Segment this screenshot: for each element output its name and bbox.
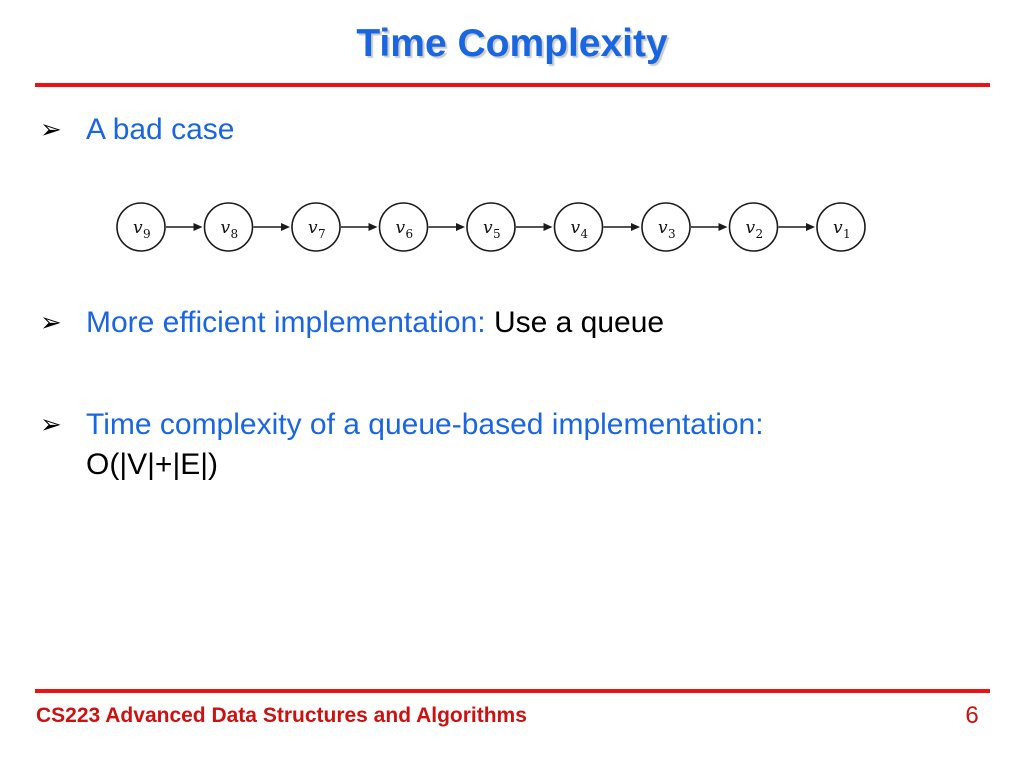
graph-node-subscript: 1	[843, 227, 851, 241]
page-title: Time Complexity	[0, 22, 1024, 66]
arrowhead-bullet-icon: ➢	[40, 405, 86, 445]
arrowhead-bullet-icon: ➢	[40, 110, 86, 150]
graph-node-subscript: 9	[143, 227, 151, 241]
graph-node-subscript: 6	[406, 227, 414, 241]
bullet-label-plain: Use a queue	[486, 306, 664, 339]
bullet-item-a-bad-case: ➢ A bad case	[40, 110, 990, 150]
graph-node-subscript: 4	[581, 227, 589, 241]
page-number: 6	[952, 702, 992, 730]
graph-edge-arrowhead-icon	[806, 223, 815, 231]
footer-course-label: CS223 Advanced Data Structures and Algor…	[36, 704, 527, 728]
graph-edge-arrowhead-icon	[369, 223, 378, 231]
bullet-item-more-efficient-implementation: ➢ More efficient implementation: Use a q…	[40, 303, 990, 343]
graph-node-label: v	[308, 218, 318, 238]
graph-edge-arrowhead-icon	[719, 223, 728, 231]
graph-node-label: v	[833, 218, 843, 238]
graph-node-subscript: 2	[756, 227, 764, 241]
bullet-label-highlight: Time complexity of a queue-based impleme…	[86, 408, 764, 441]
bullet-label: More efficient implementation: Use a que…	[86, 303, 664, 343]
graph-edge-arrowhead-icon	[456, 223, 465, 231]
graph-edge-arrowhead-icon	[631, 223, 640, 231]
graph-node-label: v	[571, 218, 581, 238]
bullet-item-time-complexity: ➢ Time complexity of a queue-based imple…	[40, 405, 990, 485]
graph-node-label: v	[396, 218, 406, 238]
bullet-label: A bad case	[86, 110, 234, 150]
directed-path-graph: v9v8v7v6v5v4v3v2v1	[100, 193, 900, 263]
bullet-label-highlight: More efficient implementation:	[86, 306, 486, 339]
footer-divider	[35, 689, 990, 693]
bullet-label: Time complexity of a queue-based impleme…	[86, 405, 764, 485]
graph-edge-arrowhead-icon	[194, 223, 203, 231]
graph-node-label: v	[483, 218, 493, 238]
graph-edge-arrowhead-icon	[544, 223, 553, 231]
graph-node-label: v	[658, 218, 668, 238]
arrowhead-bullet-icon: ➢	[40, 303, 86, 343]
graph-edge-arrowhead-icon	[281, 223, 290, 231]
graph-node-label: v	[746, 218, 756, 238]
graph-node-subscript: 5	[493, 227, 501, 241]
graph-node-subscript: 8	[231, 227, 239, 241]
header-divider	[35, 83, 990, 87]
graph-node-label: v	[133, 218, 143, 238]
graph-node-subscript: 7	[318, 227, 326, 241]
graph-node-label: v	[221, 218, 231, 238]
graph-node-subscript: 3	[668, 227, 676, 241]
complexity-expression: O(|V|+|E|)	[86, 445, 764, 485]
